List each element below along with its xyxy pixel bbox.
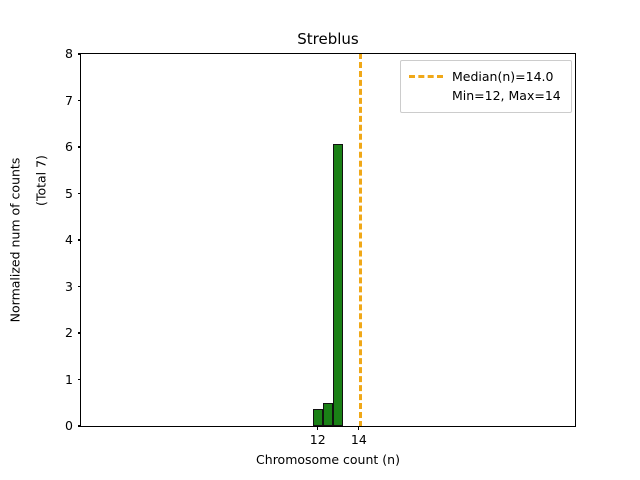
- legend-item-median: Median(n)=14.0: [409, 67, 563, 86]
- x-tick-mark: [358, 426, 359, 430]
- y-tick-label: 2: [33, 325, 73, 341]
- y-axis-label: Normalized num of counts: [8, 158, 23, 323]
- y-tick-mark: [78, 425, 82, 426]
- histogram-bar: [333, 144, 343, 426]
- y-tick-mark: [78, 146, 82, 147]
- y-tick-label: 6: [33, 139, 73, 155]
- y-tick-label: 0: [33, 418, 73, 434]
- histogram-bar: [323, 403, 333, 426]
- y-tick-label: 1: [33, 372, 73, 388]
- y-tick-mark: [78, 239, 82, 240]
- y-tick-label: 4: [33, 232, 73, 248]
- y-tick-label: 7: [33, 93, 73, 109]
- y-tick-mark: [78, 286, 82, 287]
- y-tick-label: 5: [33, 186, 73, 202]
- legend: Median(n)=14.0 Min=12, Max=14: [400, 60, 572, 113]
- histogram-figure: Streblus Normalized num of counts (Total…: [0, 0, 640, 480]
- legend-label-minmax: Min=12, Max=14: [452, 88, 561, 104]
- histogram-bar: [313, 409, 323, 426]
- y-tick-mark: [78, 53, 82, 54]
- y-tick-label: 8: [33, 46, 73, 62]
- x-axis-label: Chromosome count (n): [80, 452, 576, 468]
- chart-title: Streblus: [80, 30, 576, 48]
- y-tick-label: 3: [33, 279, 73, 295]
- dashed-line-icon: [409, 75, 443, 78]
- y-tick-mark: [78, 100, 82, 101]
- y-tick-mark: [78, 379, 82, 380]
- y-tick-mark: [78, 332, 82, 333]
- y-tick-mark: [78, 193, 82, 194]
- y-axis-label-container: Normalized num of counts: [0, 53, 30, 427]
- median-vline: [359, 54, 362, 426]
- legend-item-minmax: Min=12, Max=14: [409, 86, 563, 105]
- x-tick-label: 14: [334, 432, 384, 448]
- x-tick-mark: [317, 426, 318, 430]
- legend-label-median: Median(n)=14.0: [452, 69, 553, 85]
